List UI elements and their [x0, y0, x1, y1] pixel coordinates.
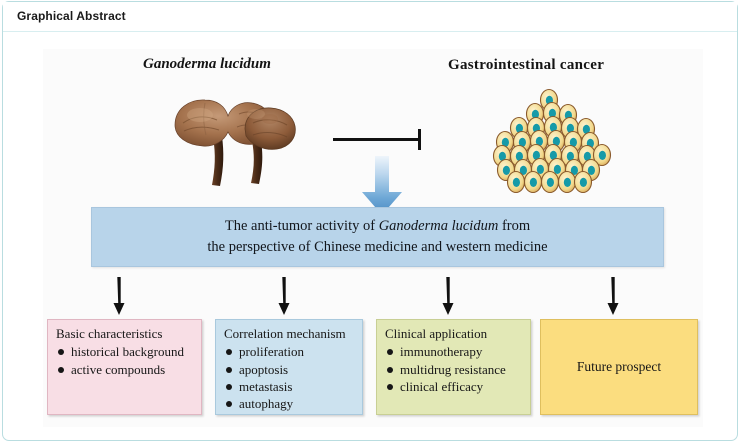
down-arrow-icon-3 — [440, 277, 456, 317]
inhibition-cap — [418, 129, 421, 150]
page-title: Graphical Abstract — [17, 9, 126, 23]
statement-banner: The anti-tumor activity of Ganoderma luc… — [91, 207, 664, 267]
banner-line1-italic: Ganoderma lucidum — [379, 218, 499, 234]
box-3-title: Clinical application — [385, 326, 530, 342]
box-future-prospect: Future prospect — [540, 319, 698, 415]
box-2-list: proliferation apoptosis metastasis autop… — [224, 343, 362, 412]
box-1-list: historical background active compounds — [56, 343, 201, 378]
inhibition-line — [333, 138, 421, 141]
inhibition-symbol-icon — [333, 127, 429, 151]
list-item: metastasis — [224, 378, 362, 395]
down-arrow-icon-1 — [111, 277, 127, 317]
ganoderma-mushroom-image — [153, 85, 323, 195]
cancer-cell-cluster-image — [483, 87, 623, 197]
list-item: apoptosis — [224, 361, 362, 378]
box-correlation-mechanism: Correlation mechanism proliferation apop… — [215, 319, 363, 415]
box-2-title: Correlation mechanism — [224, 326, 362, 342]
header-bar: Graphical Abstract — [3, 2, 737, 32]
banner-line2: the perspective of Chinese medicine and … — [207, 239, 547, 255]
statement-banner-text: The anti-tumor activity of Ganoderma luc… — [199, 216, 555, 257]
list-item: proliferation — [224, 343, 362, 360]
down-arrow-icon-4 — [605, 277, 621, 317]
graphical-abstract-figure: Ganoderma lucidum Gastrointestinal cance… — [43, 49, 703, 427]
list-item: multidrug resistance — [385, 361, 530, 378]
label-gastrointestinal-cancer: Gastrointestinal cancer — [448, 57, 604, 74]
down-arrow-icon-2 — [276, 277, 292, 317]
list-item: clinical efficacy — [385, 378, 530, 395]
box-3-list: immunotherapy multidrug resistance clini… — [385, 343, 530, 395]
box-1-title: Basic characteristics — [56, 326, 201, 342]
banner-line1-pre: The anti-tumor activity of — [225, 218, 379, 234]
page-card: Graphical Abstract Ganoderma lucidum Gas… — [2, 1, 738, 441]
list-item: historical background — [56, 343, 201, 360]
box-4-title: Future prospect — [577, 359, 661, 375]
list-item: active compounds — [56, 361, 201, 378]
label-ganoderma-lucidum: Ganoderma lucidum — [143, 56, 271, 73]
banner-line1-post: from — [498, 218, 530, 234]
list-item: autophagy — [224, 395, 362, 412]
list-item: immunotherapy — [385, 343, 530, 360]
box-basic-characteristics: Basic characteristics historical backgro… — [47, 319, 202, 415]
box-clinical-application: Clinical application immunotherapy multi… — [376, 319, 531, 415]
